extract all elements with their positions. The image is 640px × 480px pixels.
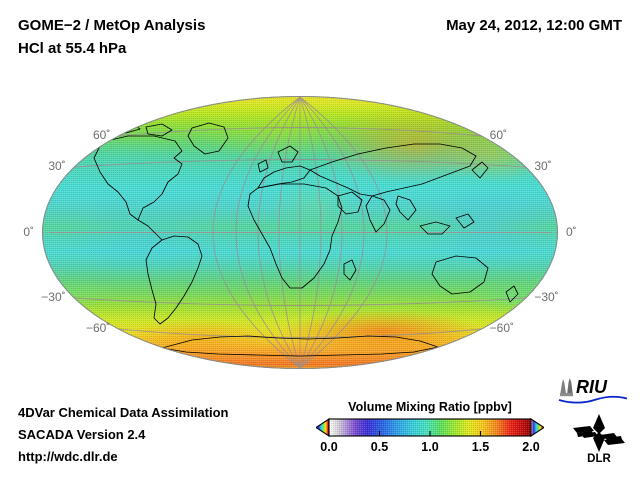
colorbar-title: Volume Mixing Ratio [ppbv] [316,400,544,414]
latitude-tick-label: −60˚ [86,321,110,335]
latitude-tick-label: −60˚ [490,321,514,335]
latitude-tick-label: −30˚ [41,290,65,304]
raster-dither-overlay [42,96,558,369]
riu-swoosh [559,397,627,403]
colorbar-scale [316,418,544,437]
riu-logo: RIU [556,374,630,404]
latitude-tick-label: 0˚ [23,225,34,239]
latitude-tick-label: 30˚ [534,159,551,173]
dlr-logo-text: DLR [587,453,611,464]
latitude-tick-label: 60˚ [93,128,110,142]
colorbar-gradient [316,418,544,437]
colorbar: Volume Mixing Ratio [ppbv] 0.00.51.01.52… [316,400,544,456]
colorbar-tick-labels: 0.00.51.01.52.0 [316,440,544,456]
footer-line-version: SACADA Version 2.4 [18,424,229,446]
footer-credits: 4DVar Chemical Data Assimilation SACADA … [18,402,229,468]
colorbar-tick-label: 0.0 [320,440,337,454]
dlr-logo: DLR [568,412,630,464]
latitude-tick-label: −30˚ [534,290,558,304]
latitude-tick-label: 60˚ [490,128,507,142]
footer-line-url[interactable]: http://wdc.dlr.de [18,446,229,468]
colorbar-tick-label: 1.0 [421,440,438,454]
timestamp-label: May 24, 2012, 12:00 GMT [446,14,622,37]
latitude-tick-label: 0˚ [566,225,577,239]
page-title: GOME−2 / MetOp Analysis [18,14,398,37]
latitude-tick-label: 30˚ [48,159,65,173]
page-subtitle: HCl at 55.4 hPa [18,37,398,60]
colorbar-tick-label: 0.5 [371,440,388,454]
footer-line-method: 4DVar Chemical Data Assimilation [18,402,229,424]
dlr-pinwheel-icon [573,414,625,452]
header-titles: GOME−2 / MetOp Analysis HCl at 55.4 hPa [18,14,398,60]
global-map [42,96,558,369]
cathedral-icon [560,378,573,396]
colorbar-tick-label: 2.0 [522,440,539,454]
riu-logo-text: RIU [576,377,608,397]
map-data-field [42,96,558,369]
colorbar-tick-label: 1.5 [472,440,489,454]
